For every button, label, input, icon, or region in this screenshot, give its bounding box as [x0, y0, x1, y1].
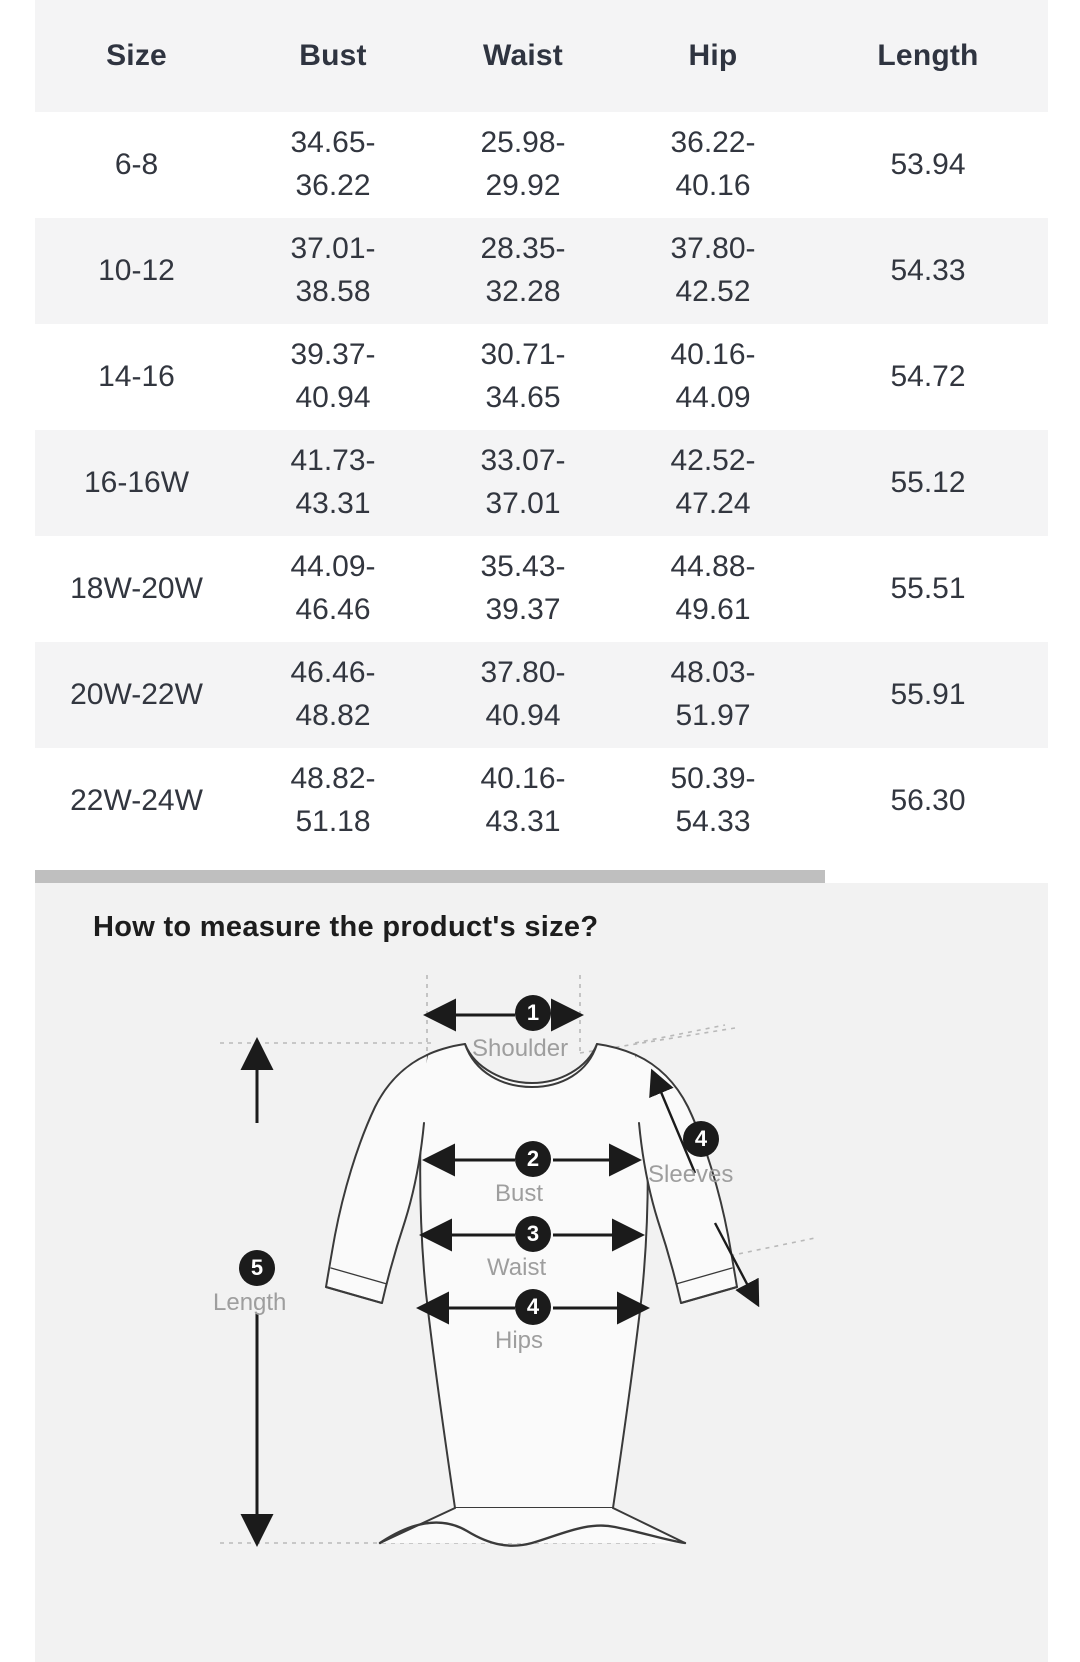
cell-hip-min: 48.03-: [622, 652, 804, 695]
cell-waist-min: 40.16-: [432, 758, 614, 801]
cell-bust-min: 44.09-: [242, 546, 424, 589]
cell-waist-min: 28.35-: [432, 228, 614, 271]
cell-waist: 33.07-37.01: [428, 430, 618, 536]
cell-size: 18W-20W: [35, 536, 238, 642]
cell-waist: 25.98-29.92: [428, 112, 618, 218]
cell-bust: 41.73-43.31: [238, 430, 428, 536]
horizontal-scrollbar-thumb[interactable]: [35, 870, 825, 883]
cell-bust: 34.65-36.22: [238, 112, 428, 218]
marker-badge-5-length: 5: [239, 1250, 275, 1286]
cell-bust-min: 34.65-: [242, 122, 424, 165]
size-chart-page: Size Bust Waist Hip Length 6-8 34.65-36.…: [0, 0, 1080, 1662]
column-header-bust: Bust: [238, 0, 428, 112]
cell-waist: 30.71-34.65: [428, 324, 618, 430]
cell-waist-min: 33.07-: [432, 440, 614, 483]
cell-bust-min: 46.46-: [242, 652, 424, 695]
size-table-head: Size Bust Waist Hip Length: [35, 0, 1048, 112]
cell-size: 10-12: [35, 218, 238, 324]
cell-length: 54.33: [808, 218, 1048, 324]
cell-bust-max: 43.31: [242, 483, 424, 526]
cell-hip-min: 50.39-: [622, 758, 804, 801]
table-row: 22W-24W 48.82-51.18 40.16-43.31 50.39-54…: [35, 748, 1048, 854]
cell-length: 55.12: [808, 430, 1048, 536]
dim-label-hips: Hips: [495, 1327, 543, 1355]
table-row: 20W-22W 46.46-48.82 37.80-40.94 48.03-51…: [35, 642, 1048, 748]
cell-bust-max: 46.46: [242, 589, 424, 632]
cell-bust: 48.82-51.18: [238, 748, 428, 854]
cell-size: 6-8: [35, 112, 238, 218]
how-to-measure-panel: How to measure the product's size?: [35, 883, 1048, 1662]
cell-waist-max: 32.28: [432, 271, 614, 314]
marker-badge-2-bust: 2: [515, 1141, 551, 1177]
dim-label-length: Length: [213, 1289, 286, 1317]
cell-hip-min: 42.52-: [622, 440, 804, 483]
dim-label-bust: Bust: [495, 1180, 543, 1208]
cell-hip: 40.16-44.09: [618, 324, 808, 430]
cell-bust-max: 51.18: [242, 801, 424, 844]
cell-bust: 39.37-40.94: [238, 324, 428, 430]
cell-bust-min: 48.82-: [242, 758, 424, 801]
cell-waist: 40.16-43.31: [428, 748, 618, 854]
cell-hip: 42.52-47.24: [618, 430, 808, 536]
table-row: 10-12 37.01-38.58 28.35-32.28 37.80-42.5…: [35, 218, 1048, 324]
cell-length: 54.72: [808, 324, 1048, 430]
cell-waist: 28.35-32.28: [428, 218, 618, 324]
cell-length: 56.30: [808, 748, 1048, 854]
cell-bust-max: 40.94: [242, 377, 424, 420]
cell-size: 20W-22W: [35, 642, 238, 748]
cell-waist-min: 37.80-: [432, 652, 614, 695]
cell-bust-min: 37.01-: [242, 228, 424, 271]
cell-waist-min: 30.71-: [432, 334, 614, 377]
cell-length: 55.51: [808, 536, 1048, 642]
dim-label-waist: Waist: [487, 1254, 546, 1282]
cell-size: 14-16: [35, 324, 238, 430]
cell-hip-max: 51.97: [622, 695, 804, 738]
cell-hip-max: 44.09: [622, 377, 804, 420]
cell-waist: 37.80-40.94: [428, 642, 618, 748]
cell-waist-min: 35.43-: [432, 546, 614, 589]
cell-bust: 44.09-46.46: [238, 536, 428, 642]
cell-hip-min: 44.88-: [622, 546, 804, 589]
cell-bust-max: 38.58: [242, 271, 424, 314]
column-header-length: Length: [808, 0, 1048, 112]
cell-hip-max: 54.33: [622, 801, 804, 844]
cell-hip: 44.88-49.61: [618, 536, 808, 642]
size-table: Size Bust Waist Hip Length 6-8 34.65-36.…: [35, 0, 1048, 854]
cell-waist-max: 37.01: [432, 483, 614, 526]
cell-hip: 37.80-42.52: [618, 218, 808, 324]
size-table-scroll-container[interactable]: Size Bust Waist Hip Length 6-8 34.65-36.…: [35, 0, 1048, 854]
cell-bust-max: 36.22: [242, 165, 424, 208]
cell-bust: 37.01-38.58: [238, 218, 428, 324]
table-row: 14-16 39.37-40.94 30.71-34.65 40.16-44.0…: [35, 324, 1048, 430]
cell-hip-max: 40.16: [622, 165, 804, 208]
cell-hip: 48.03-51.97: [618, 642, 808, 748]
cell-waist-max: 29.92: [432, 165, 614, 208]
cell-length: 53.94: [808, 112, 1048, 218]
cell-waist-max: 43.31: [432, 801, 614, 844]
marker-badge-1-shoulder: 1: [515, 995, 551, 1031]
cell-waist-min: 25.98-: [432, 122, 614, 165]
cell-waist: 35.43-39.37: [428, 536, 618, 642]
dim-label-shoulder: Shoulder: [472, 1035, 568, 1063]
cell-length: 55.91: [808, 642, 1048, 748]
cell-hip-max: 47.24: [622, 483, 804, 526]
column-header-size: Size: [35, 0, 238, 112]
cell-bust: 46.46-48.82: [238, 642, 428, 748]
table-header-row: Size Bust Waist Hip Length: [35, 0, 1048, 112]
marker-badge-3-waist: 3: [515, 1216, 551, 1252]
table-row: 16-16W 41.73-43.31 33.07-37.01 42.52-47.…: [35, 430, 1048, 536]
cell-waist-max: 40.94: [432, 695, 614, 738]
cell-hip: 36.22-40.16: [618, 112, 808, 218]
column-header-waist: Waist: [428, 0, 618, 112]
cell-waist-max: 34.65: [432, 377, 614, 420]
marker-badge-4-hips: 4: [515, 1289, 551, 1325]
cell-hip: 50.39-54.33: [618, 748, 808, 854]
cell-waist-max: 39.37: [432, 589, 614, 632]
table-row: 6-8 34.65-36.22 25.98-29.92 36.22-40.16 …: [35, 112, 1048, 218]
cell-hip-max: 42.52: [622, 271, 804, 314]
table-row: 18W-20W 44.09-46.46 35.43-39.37 44.88-49…: [35, 536, 1048, 642]
cell-hip-min: 40.16-: [622, 334, 804, 377]
dim-label-sleeves: Sleeves: [648, 1161, 733, 1189]
cell-size: 16-16W: [35, 430, 238, 536]
column-header-hip: Hip: [618, 0, 808, 112]
cell-bust-min: 41.73-: [242, 440, 424, 483]
size-table-body: 6-8 34.65-36.22 25.98-29.92 36.22-40.16 …: [35, 112, 1048, 854]
cell-hip-min: 37.80-: [622, 228, 804, 271]
cell-bust-min: 39.37-: [242, 334, 424, 377]
cell-bust-max: 48.82: [242, 695, 424, 738]
cell-hip-max: 49.61: [622, 589, 804, 632]
cell-size: 22W-24W: [35, 748, 238, 854]
marker-badge-4-sleeves: 4: [683, 1121, 719, 1157]
cell-hip-min: 36.22-: [622, 122, 804, 165]
